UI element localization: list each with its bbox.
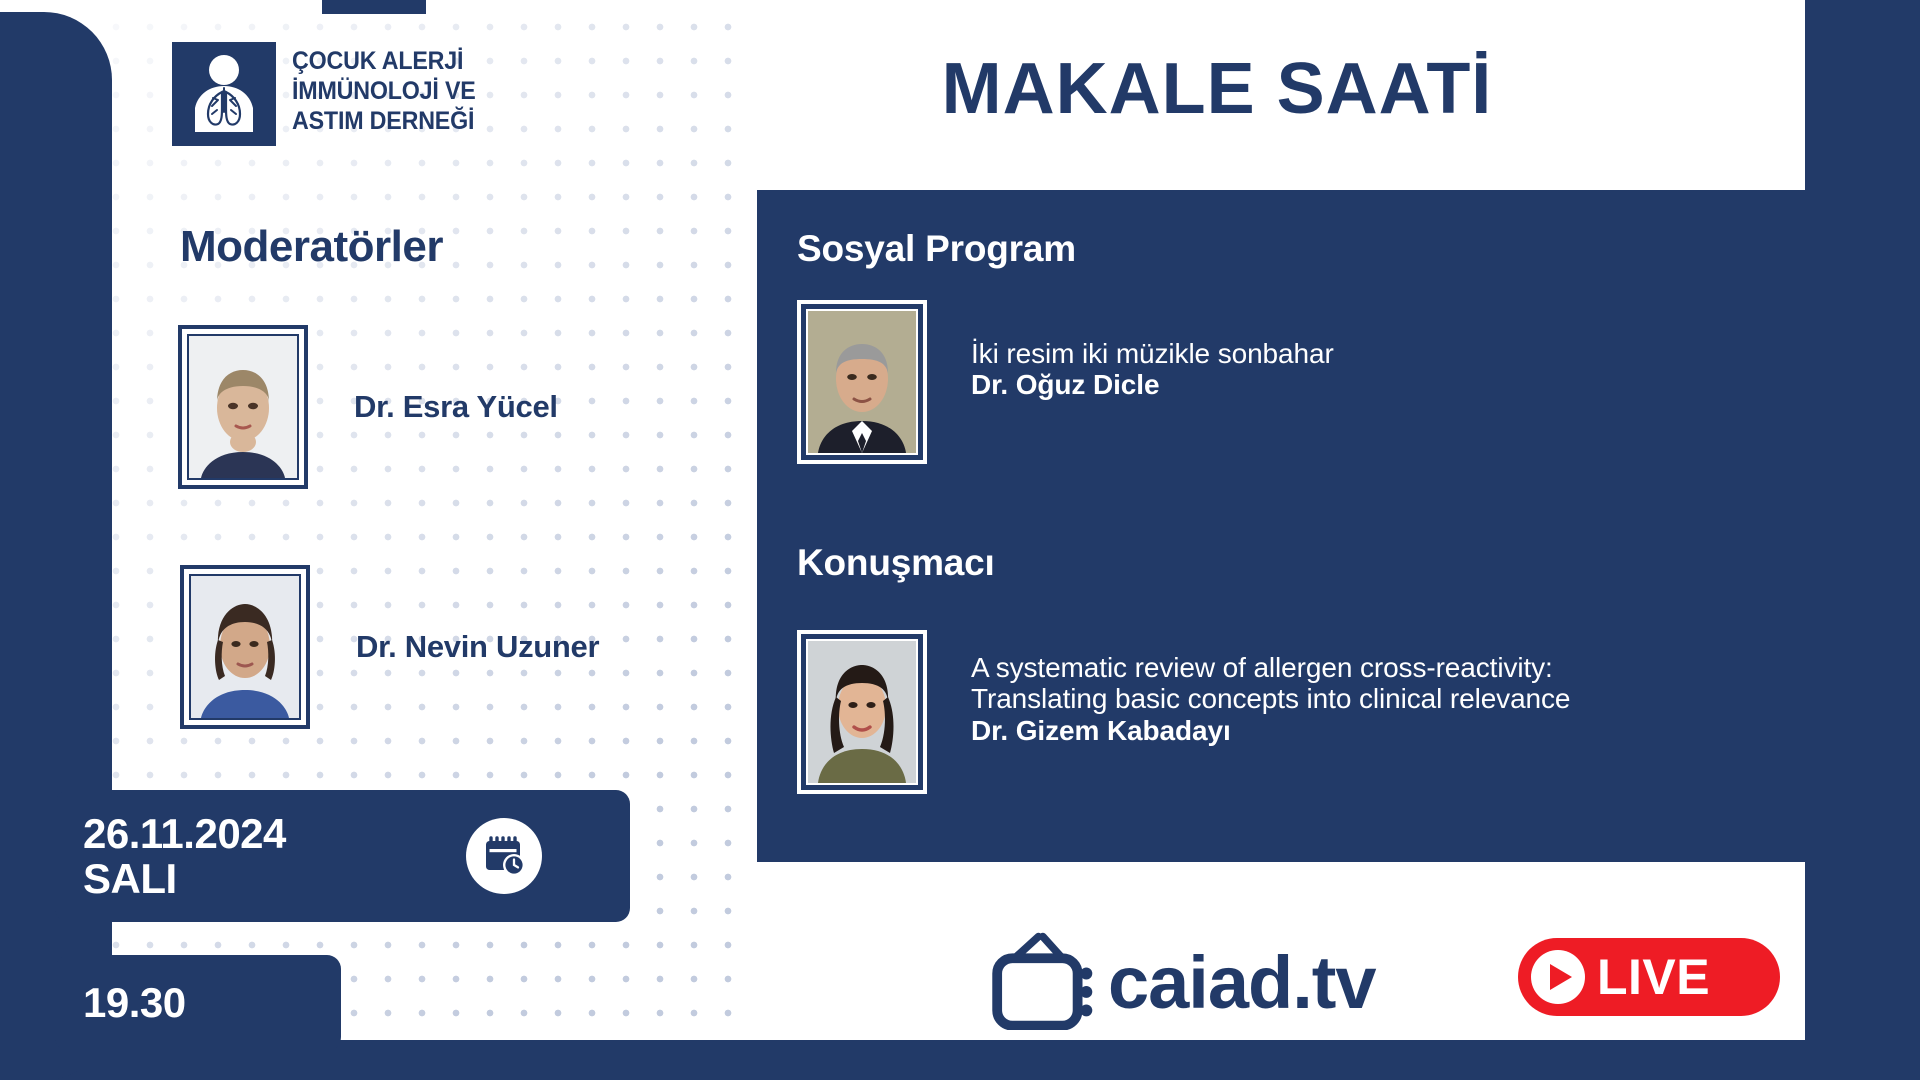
association-logo-text: ÇOCUK ALERJİ İMMÜNOLOJİ VE ASTIM DERNEĞİ	[292, 49, 489, 139]
moderators-heading: Moderatörler	[180, 222, 443, 272]
presenter-name: Dr. Gizem Kabadayı	[971, 715, 1570, 747]
program-entry-social: İki resim iki müzikle sonbahar Dr. Oğuz …	[797, 300, 1334, 464]
poster-canvas: ÇOCUK ALERJİ İMMÜNOLOJİ VE ASTIM DERNEĞİ…	[0, 0, 1920, 1080]
program-title-line: A systematic review of allergen cross-re…	[971, 652, 1570, 683]
portrait-gizem-kabadayi	[808, 641, 916, 783]
section-heading-speaker: Konuşmacı	[797, 542, 995, 584]
moderator-row-1: Dr. Esra Yücel	[178, 325, 558, 489]
moderator-row-2: Dr. Nevin Uzuner	[180, 565, 599, 729]
live-badge[interactable]: LIVE	[1518, 938, 1780, 1016]
logo-line-2: İMMÜNOLOJİ VE	[292, 79, 476, 104]
date-text: 26.11.2024 SALI	[83, 811, 286, 902]
time-chip: 19.30	[55, 955, 341, 1051]
portrait-esra-yucel	[189, 336, 297, 478]
portrait-frame	[797, 300, 927, 464]
date-chip: 26.11.2024 SALI	[55, 790, 630, 922]
program-title-line: Translating basic concepts into clinical…	[971, 683, 1570, 714]
association-logo: ÇOCUK ALERJİ İMMÜNOLOJİ VE ASTIM DERNEĞİ	[172, 42, 489, 146]
presenter-name: Dr. Oğuz Dicle	[971, 369, 1334, 401]
play-icon	[1531, 950, 1585, 1004]
page-title: MAKALE SAATİ	[757, 48, 1677, 130]
live-label: LIVE	[1597, 948, 1710, 1006]
program-entry-speaker: A systematic review of allergen cross-re…	[797, 630, 1570, 794]
event-date: 26.11.2024	[83, 811, 286, 856]
program-title-line: İki resim iki müzikle sonbahar	[971, 338, 1334, 369]
program-entry-text: İki resim iki müzikle sonbahar Dr. Oğuz …	[971, 338, 1334, 402]
logo-line-1: ÇOCUK ALERJİ	[292, 49, 476, 74]
program-panel: Sosyal Program	[757, 190, 1920, 862]
portrait-nevin-uzuner	[191, 576, 299, 718]
portrait-frame	[797, 630, 927, 794]
program-entry-text: A systematic review of allergen cross-re…	[971, 652, 1570, 747]
portrait-frame	[180, 565, 310, 729]
top-navy-tab	[322, 0, 426, 14]
logo-line-3: ASTIM DERNEĞİ	[292, 109, 476, 134]
section-heading-social: Sosyal Program	[797, 228, 1076, 270]
calendar-clock-icon	[466, 818, 542, 894]
channel-brand[interactable]: caiad.tv	[990, 930, 1376, 1035]
retro-tv-icon	[990, 930, 1100, 1035]
event-time: 19.30	[83, 979, 186, 1027]
white-card: ÇOCUK ALERJİ İMMÜNOLOJİ VE ASTIM DERNEĞİ…	[0, 0, 1805, 1040]
portrait-frame	[178, 325, 308, 489]
child-lungs-icon	[172, 42, 276, 146]
portrait-oguz-dicle	[808, 311, 916, 453]
event-day: SALI	[83, 856, 286, 901]
moderator-name: Dr. Esra Yücel	[354, 389, 558, 425]
channel-name: caiad.tv	[1108, 940, 1376, 1025]
moderator-name: Dr. Nevin Uzuner	[356, 629, 599, 665]
